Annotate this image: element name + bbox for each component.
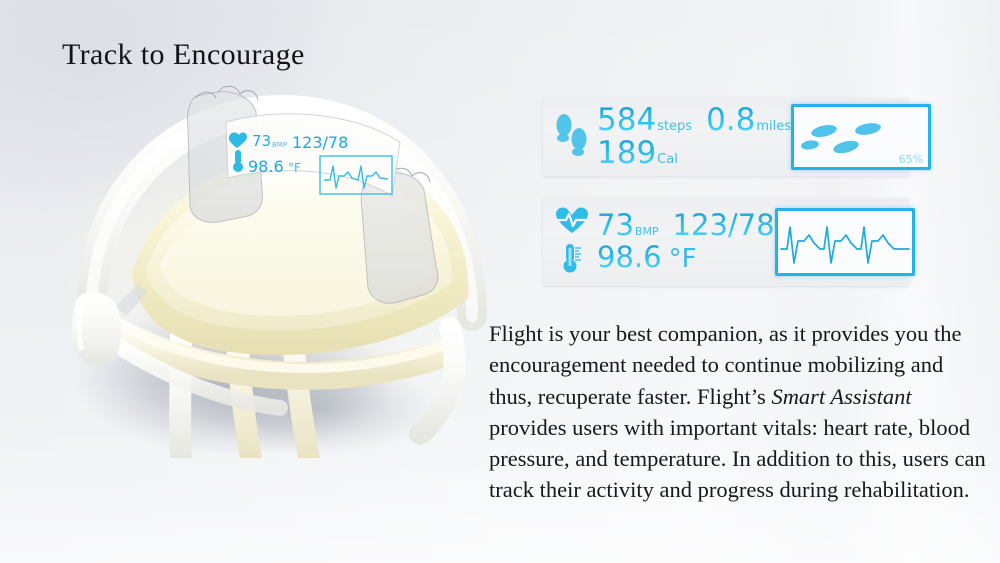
footprint-trail-graphic[interactable]: 65% xyxy=(791,104,931,170)
heart-pulse-icon xyxy=(555,205,589,240)
product-render-walker: 73 BMP 123/78 98.6 °F xyxy=(20,78,510,458)
distance-value: 0.8 xyxy=(706,104,755,137)
vitals-readout: 73 BMP 123/78 98.6 °F xyxy=(595,210,775,273)
thermometer-icon xyxy=(559,242,585,279)
heart-rate-unit: BMP xyxy=(635,226,659,237)
display-thermo-icon xyxy=(235,150,241,164)
slide-canvas: Track to Encourage xyxy=(0,0,1000,563)
body-text-part2: provides users with important vitals: he… xyxy=(489,415,986,503)
temperature-unit: °F xyxy=(669,244,697,274)
calories-unit: Cal xyxy=(657,153,678,166)
distance-unit: miles xyxy=(756,120,791,133)
progress-label: 65% xyxy=(899,153,923,166)
svg-text:98.6: 98.6 xyxy=(248,157,284,176)
calories-value: 189 xyxy=(597,137,656,170)
activity-readout: 584 steps 0.8 miles 189 Cal xyxy=(595,104,791,171)
activity-panel[interactable]: 584 steps 0.8 miles 189 Cal xyxy=(543,98,909,176)
blood-pressure-value: 123/78 xyxy=(673,210,775,241)
page-title: Track to Encourage xyxy=(62,38,305,72)
body-paragraph: Flight is your best companion, as it pro… xyxy=(489,318,989,506)
footprints-icon xyxy=(549,111,595,163)
steps-unit: steps xyxy=(657,120,692,133)
svg-text:°F: °F xyxy=(288,161,301,175)
vitals-panel[interactable]: 73 BMP 123/78 98.6 °F xyxy=(543,198,909,286)
svg-text:BMP: BMP xyxy=(272,141,287,149)
svg-text:123/78: 123/78 xyxy=(292,133,348,152)
ecg-waveform-graphic[interactable] xyxy=(775,208,915,276)
steps-value: 584 xyxy=(597,104,656,137)
body-text-emphasis: Smart Assistant xyxy=(771,384,911,409)
temperature-value: 98.6 xyxy=(597,242,662,273)
svg-text:73: 73 xyxy=(252,132,271,150)
heart-rate-value: 73 xyxy=(597,210,634,241)
